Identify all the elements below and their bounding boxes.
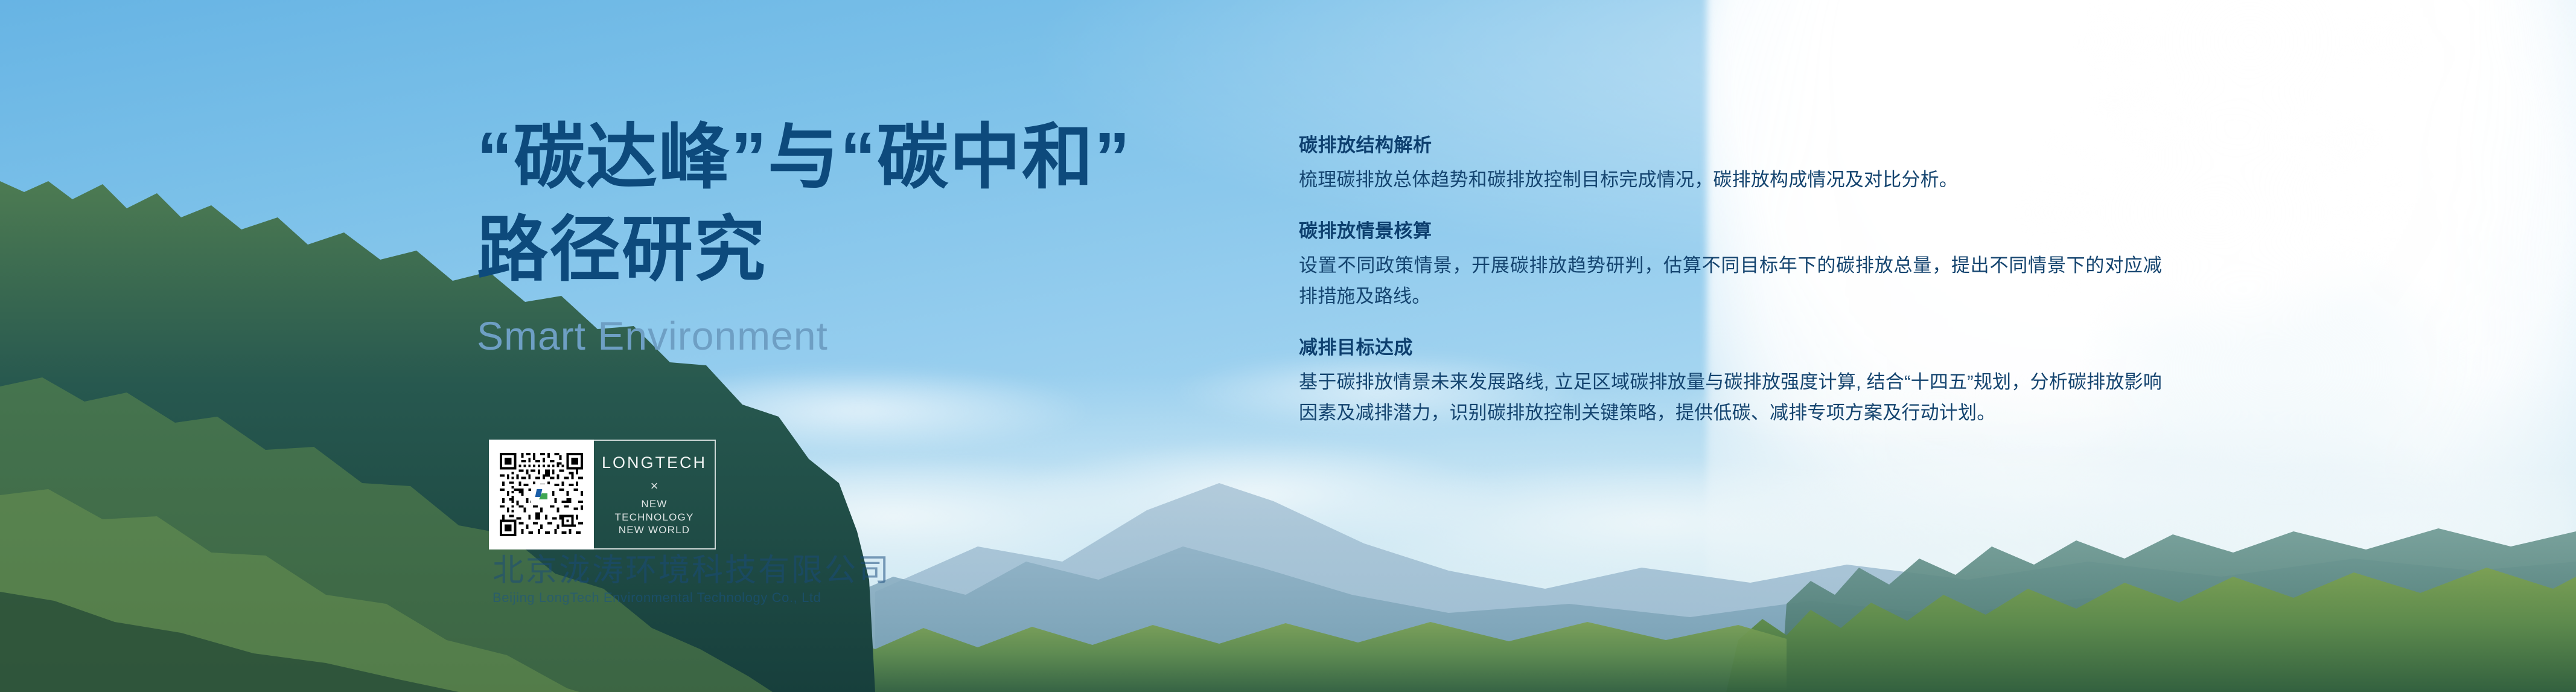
info-body: 梳理碳排放总体趋势和碳排放控制目标完成情况，碳排放构成情况及对比分析。 <box>1299 164 2162 195</box>
page-subtitle: Smart Environment <box>477 313 1189 359</box>
qr-card[interactable]: LONGTECH × NEW TECHNOLOGY NEW WORLD <box>489 440 716 549</box>
qr-code-panel[interactable] <box>489 440 594 549</box>
info-block: 碳排放结构解析 梳理碳排放总体趋势和碳排放控制目标完成情况，碳排放构成情况及对比… <box>1299 134 2162 196</box>
qr-code-image[interactable] <box>497 450 585 539</box>
qr-tagline-line-3: NEW WORLD <box>619 524 690 536</box>
info-column: 碳排放结构解析 梳理碳排放总体趋势和碳排放控制目标完成情况，碳排放构成情况及对比… <box>1299 134 2162 429</box>
company-name-cn: 北京泷涛环境科技有限公司 <box>493 554 891 588</box>
qr-center-logo <box>531 484 552 505</box>
qr-brand-name: LONGTECH <box>602 453 707 473</box>
mountain-forest-scene <box>0 0 2576 692</box>
title-block: “碳达峰”与“碳中和” 路径研究 Smart Environment <box>477 112 1189 359</box>
info-heading: 减排目标达成 <box>1299 336 2162 359</box>
company-name-en: Beijing LongTech Environmental Technolog… <box>493 591 891 604</box>
info-heading: 碳排放情景核算 <box>1299 220 2162 242</box>
qr-cross-symbol: × <box>651 478 658 495</box>
page-title-line-2: 路径研究 <box>477 204 1189 296</box>
info-block: 碳排放情景核算 设置不同政策情景，开展碳排放趋势研判，估算不同目标年下的碳排放总… <box>1299 220 2162 312</box>
carbon-peak-banner: “碳达峰”与“碳中和” 路径研究 Smart Environment 碳排放结构… <box>0 0 2576 692</box>
info-body: 设置不同政策情景，开展碳排放趋势研判，估算不同目标年下的碳排放总量，提出不同情景… <box>1299 250 2162 312</box>
info-body: 基于碳排放情景未来发展路线, 立足区域碳排放量与碳排放强度计算, 结合“十四五”… <box>1299 367 2162 429</box>
info-heading: 碳排放结构解析 <box>1299 134 2162 156</box>
page-title-line-1: “碳达峰”与“碳中和” <box>477 112 1189 204</box>
longtech-logo-mark <box>535 489 548 500</box>
qr-tagline-line-1: NEW <box>641 498 667 510</box>
qr-tagline-line-2: TECHNOLOGY <box>614 511 693 524</box>
qr-brand-panel: LONGTECH × NEW TECHNOLOGY NEW WORLD <box>594 440 716 549</box>
company-watermark: 北京泷涛环境科技有限公司 Beijing LongTech Environmen… <box>493 554 891 604</box>
info-block: 减排目标达成 基于碳排放情景未来发展路线, 立足区域碳排放量与碳排放强度计算, … <box>1299 336 2162 429</box>
